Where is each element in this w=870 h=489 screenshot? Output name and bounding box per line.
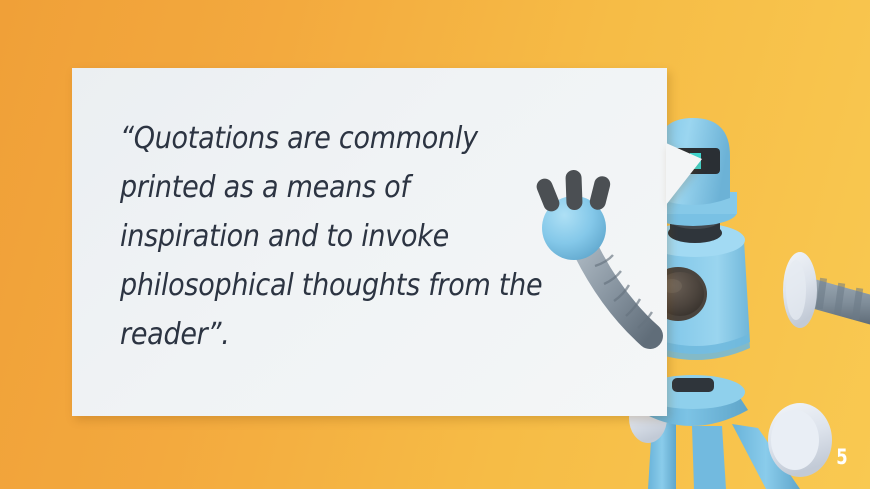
quote-card: “Quotations are commonly printed as a me… — [72, 68, 667, 416]
speech-bubble-tail — [666, 143, 702, 205]
slide-canvas: “Quotations are commonly printed as a me… — [0, 0, 870, 489]
quote-text: “Quotations are commonly printed as a me… — [120, 114, 570, 359]
page-number: 5 — [837, 445, 848, 469]
robot-right-arm — [783, 252, 870, 328]
